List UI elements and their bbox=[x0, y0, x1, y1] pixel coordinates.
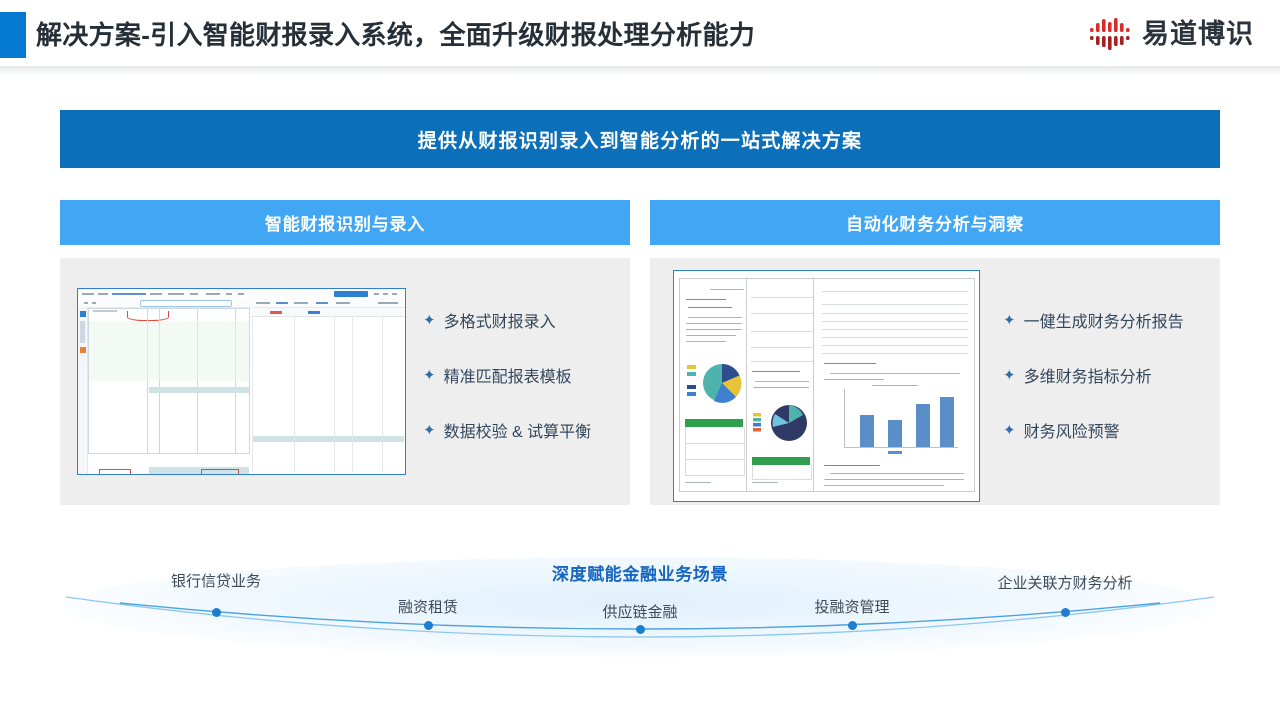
bar bbox=[888, 420, 902, 447]
bullet-item: ✦ 精准匹配报表模板 bbox=[423, 363, 591, 387]
barcode-dots-logo-icon bbox=[1089, 16, 1133, 52]
scenario-dot[interactable] bbox=[636, 625, 645, 634]
page-title: 解决方案-引入智能财报录入系统，全面升级财报处理分析能力 bbox=[36, 13, 755, 57]
mini-app-toolbar bbox=[78, 298, 405, 308]
scenario-label: 银行信贷业务 bbox=[171, 570, 261, 591]
scenarios-section: 深度赋能金融业务场景 银行信贷业务融资租赁供应链金融投融资管理企业关联方财务分析 bbox=[0, 545, 1280, 665]
bullet-item: ✦ 财务风险预警 bbox=[1003, 418, 1184, 442]
scenario-label: 融资租赁 bbox=[398, 596, 458, 617]
financial-analysis-report-screenshot[interactable] bbox=[673, 270, 980, 502]
column-heading-recognition: 智能财报识别与录入 bbox=[60, 200, 630, 245]
scenario-dot[interactable] bbox=[1061, 608, 1070, 617]
pie-chart-icon bbox=[751, 399, 813, 447]
scenario-label: 企业关联方财务分析 bbox=[997, 572, 1132, 593]
scenario-dot[interactable] bbox=[212, 608, 221, 617]
diamond-bullet-icon: ✦ bbox=[1003, 313, 1016, 328]
scenario-dot[interactable] bbox=[848, 621, 857, 630]
bullet-label: 精准匹配报表模板 bbox=[444, 363, 572, 387]
diamond-bullet-icon: ✦ bbox=[1003, 368, 1016, 383]
diamond-bullet-icon: ✦ bbox=[423, 423, 436, 438]
bullet-item: ✦ 数据校验 & 试算平衡 bbox=[423, 418, 591, 442]
column-heading-recognition-label: 智能财报识别与录入 bbox=[265, 210, 425, 235]
diamond-bullet-icon: ✦ bbox=[423, 368, 436, 383]
bullet-item: ✦ 一健生成财务分析报告 bbox=[1003, 308, 1184, 332]
report-page-3 bbox=[813, 278, 975, 492]
brand-name: 易道博识 bbox=[1142, 16, 1254, 52]
scenario-label: 投融资管理 bbox=[814, 596, 889, 617]
mini-scanned-statement bbox=[88, 308, 250, 454]
bullet-label: 多维财务指标分析 bbox=[1024, 363, 1152, 387]
report-page-2 bbox=[746, 278, 818, 492]
bar bbox=[940, 397, 954, 447]
bar bbox=[860, 415, 874, 447]
scenario-label: 供应链金融 bbox=[602, 601, 677, 622]
bullet-label: 数据校验 & 试算平衡 bbox=[444, 418, 592, 442]
bullet-item: ✦ 多维财务指标分析 bbox=[1003, 363, 1184, 387]
bullet-label: 一健生成财务分析报告 bbox=[1024, 308, 1184, 332]
pie-chart-icon bbox=[686, 357, 746, 409]
financial-statement-entry-screenshot[interactable] bbox=[77, 288, 406, 475]
bullet-list-recognition: ✦ 多格式财报录入 ✦ 精准匹配报表模板 ✦ 数据校验 & 试算平衡 bbox=[423, 308, 591, 473]
scenario-dot[interactable] bbox=[424, 621, 433, 630]
solution-banner: 提供从财报识别录入到智能分析的一站式解决方案 bbox=[60, 110, 1220, 168]
page-header: 解决方案-引入智能财报录入系统，全面升级财报处理分析能力 bbox=[0, 0, 1280, 70]
column-heading-analysis-label: 自动化财务分析与洞察 bbox=[846, 210, 1024, 235]
header-divider bbox=[0, 66, 1280, 76]
diamond-bullet-icon: ✦ bbox=[1003, 423, 1016, 438]
report-page-1 bbox=[679, 278, 751, 492]
diamond-bullet-icon: ✦ bbox=[423, 313, 436, 328]
panel-recognition: ✦ 多格式财报录入 ✦ 精准匹配报表模板 ✦ 数据校验 & 试算平衡 bbox=[60, 258, 630, 505]
solution-banner-text: 提供从财报识别录入到智能分析的一站式解决方案 bbox=[418, 126, 862, 153]
brand-logo: 易道博识 bbox=[1089, 11, 1254, 57]
bullet-label: 财务风险预警 bbox=[1024, 418, 1120, 442]
mini-app-sidebar bbox=[78, 307, 88, 474]
column-heading-analysis: 自动化财务分析与洞察 bbox=[650, 200, 1220, 245]
bullet-list-analysis: ✦ 一健生成财务分析报告 ✦ 多维财务指标分析 ✦ 财务风险预警 bbox=[1003, 308, 1184, 473]
header-accent-bar bbox=[0, 12, 26, 58]
bullet-item: ✦ 多格式财报录入 bbox=[423, 308, 591, 332]
bullet-label: 多格式财报录入 bbox=[444, 308, 556, 332]
panel-analysis: ✦ 一健生成财务分析报告 ✦ 多维财务指标分析 ✦ 财务风险预警 bbox=[650, 258, 1220, 505]
bar bbox=[916, 404, 930, 447]
mini-data-table bbox=[252, 308, 404, 472]
